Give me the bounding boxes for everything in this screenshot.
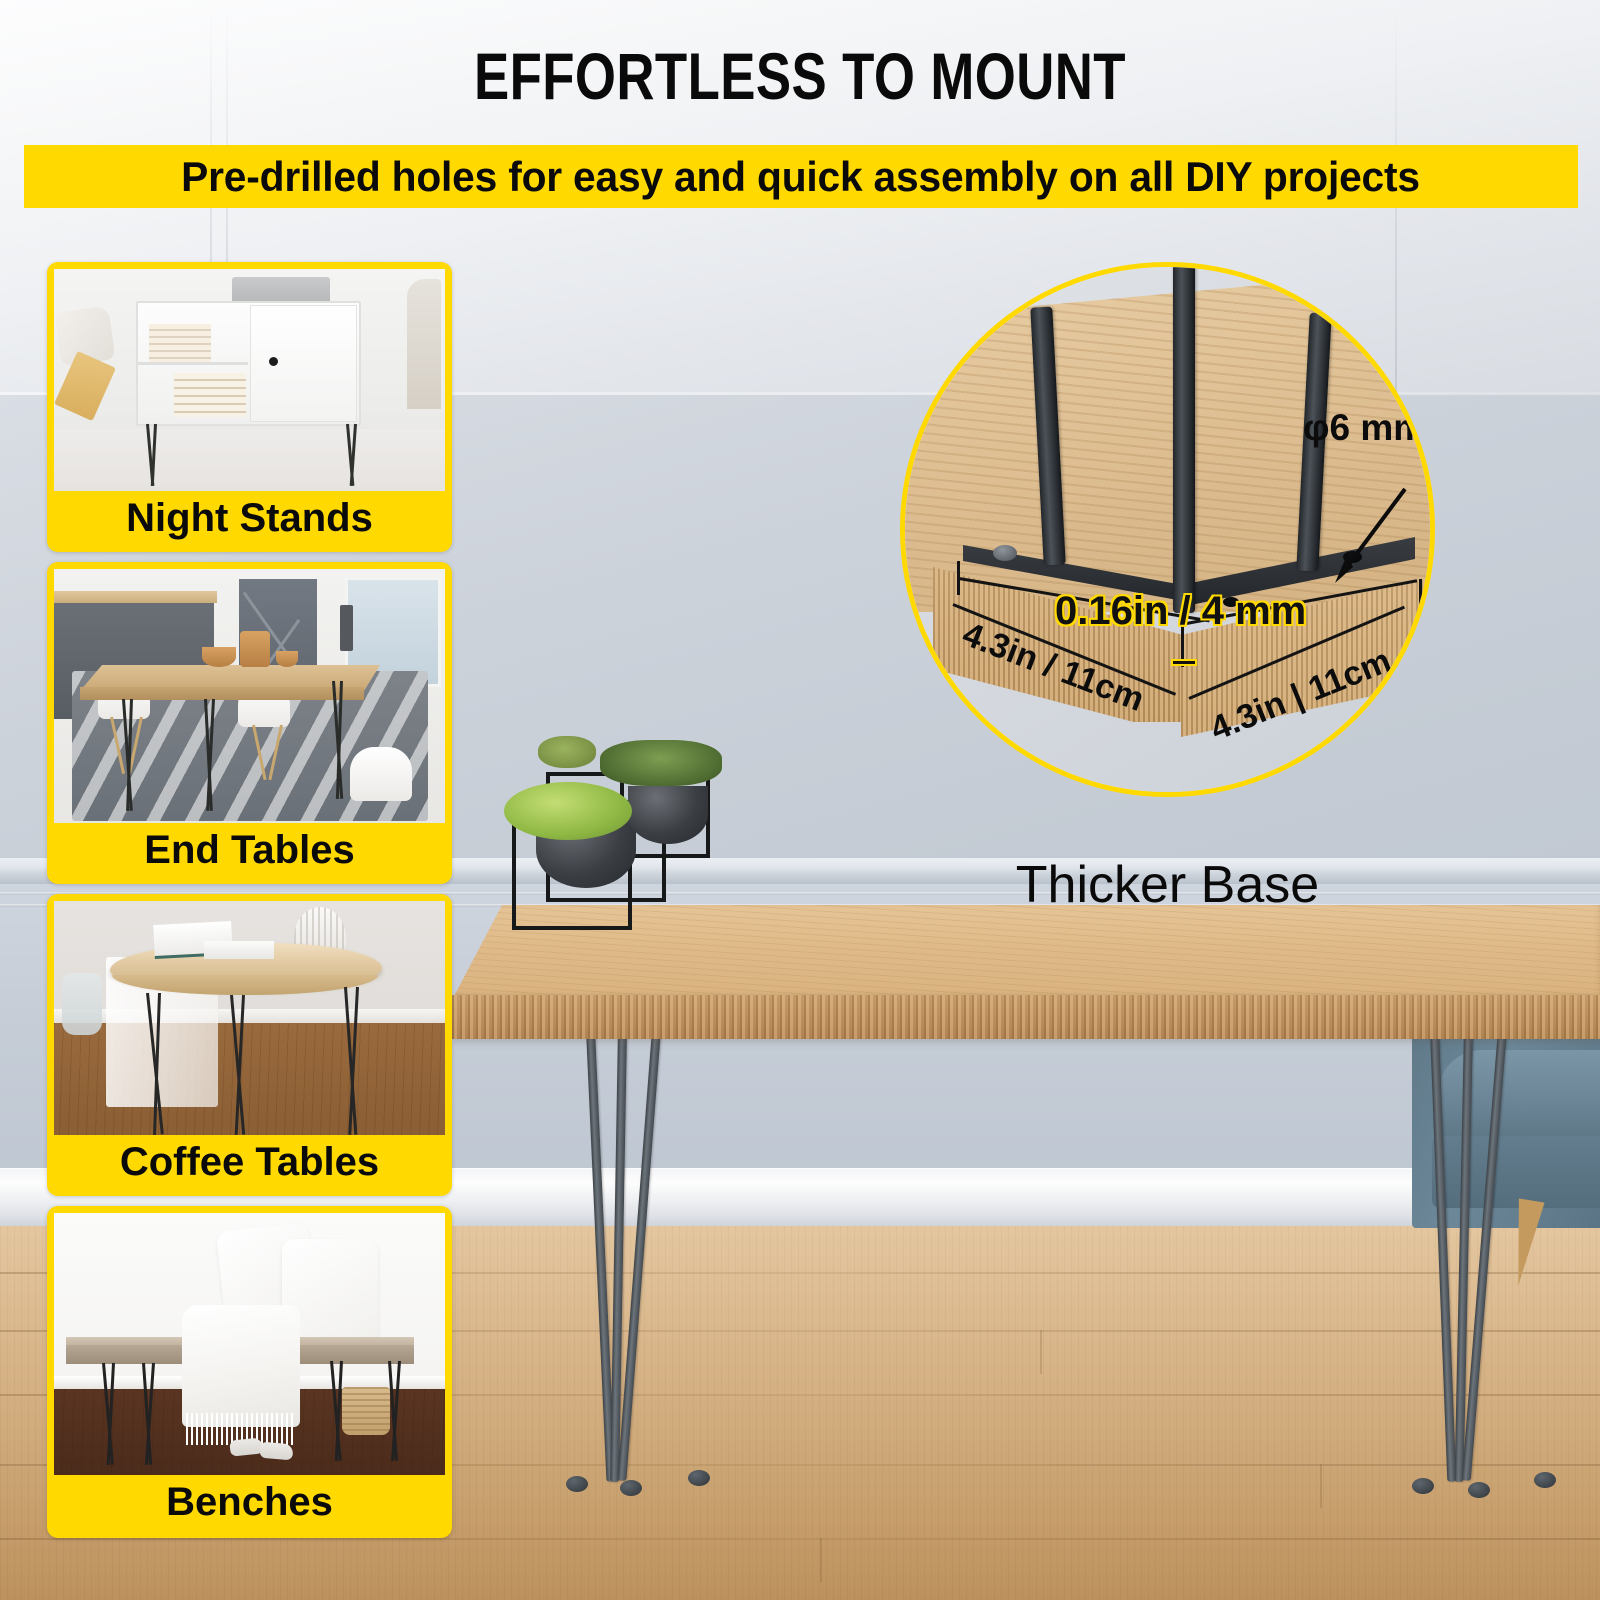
plant-foliage <box>538 736 596 768</box>
dim-tick <box>1419 579 1422 613</box>
thickness-bracket <box>1173 661 1195 664</box>
hole-diameter-label: φ6 mm <box>1303 407 1426 449</box>
subtitle-banner: Pre-drilled holes for easy and quick ass… <box>24 145 1578 208</box>
plant-foliage <box>504 782 632 840</box>
plant-foliage <box>600 740 722 786</box>
sidebar-item-night-stands[interactable]: Night Stands <box>47 262 452 552</box>
page-headline: EFFORTLESS TO MOUNT <box>160 38 1440 114</box>
planter-bowl <box>628 786 708 844</box>
sidebar-label-benches: Benches <box>47 1482 452 1522</box>
table-top-edge <box>452 995 1600 1039</box>
night-stands-thumbnail <box>54 269 445 491</box>
plate-thickness-label: 0.16in / 4 mm <box>1055 589 1306 634</box>
coffee-tables-thumbnail <box>54 901 445 1135</box>
leg-foot-cap <box>688 1470 710 1486</box>
benches-thumbnail <box>54 1213 445 1475</box>
end-tables-thumbnail <box>54 569 445 823</box>
zoom-callout-circle: φ6 mm 0.16in / 4 mm 4.3in / 11cm 4.3in |… <box>900 262 1435 797</box>
sidebar-label-end-tables: End Tables <box>47 830 452 870</box>
sidebar-item-end-tables[interactable]: End Tables <box>47 562 452 884</box>
leg-foot-cap <box>1534 1472 1556 1488</box>
sidebar-label-night-stands: Night Stands <box>47 498 452 538</box>
sidebar-label-coffee-tables: Coffee Tables <box>47 1142 452 1182</box>
armchair-seat <box>1432 1136 1600 1208</box>
hole-callout-arrow <box>1305 483 1415 593</box>
callout-caption: Thicker Base <box>900 855 1435 915</box>
sidebar-item-coffee-tables[interactable]: Coffee Tables <box>47 894 452 1196</box>
subtitle-text: Pre-drilled holes for easy and quick ass… <box>182 153 1421 201</box>
plate-screw <box>993 545 1017 561</box>
hairpin-rod <box>1173 262 1195 613</box>
leg-foot-cap <box>1468 1482 1490 1498</box>
sidebar-item-benches[interactable]: Benches <box>47 1206 452 1538</box>
leg-foot-cap <box>566 1476 588 1492</box>
leg-foot-cap <box>620 1480 642 1496</box>
leg-foot-cap <box>1412 1478 1434 1494</box>
